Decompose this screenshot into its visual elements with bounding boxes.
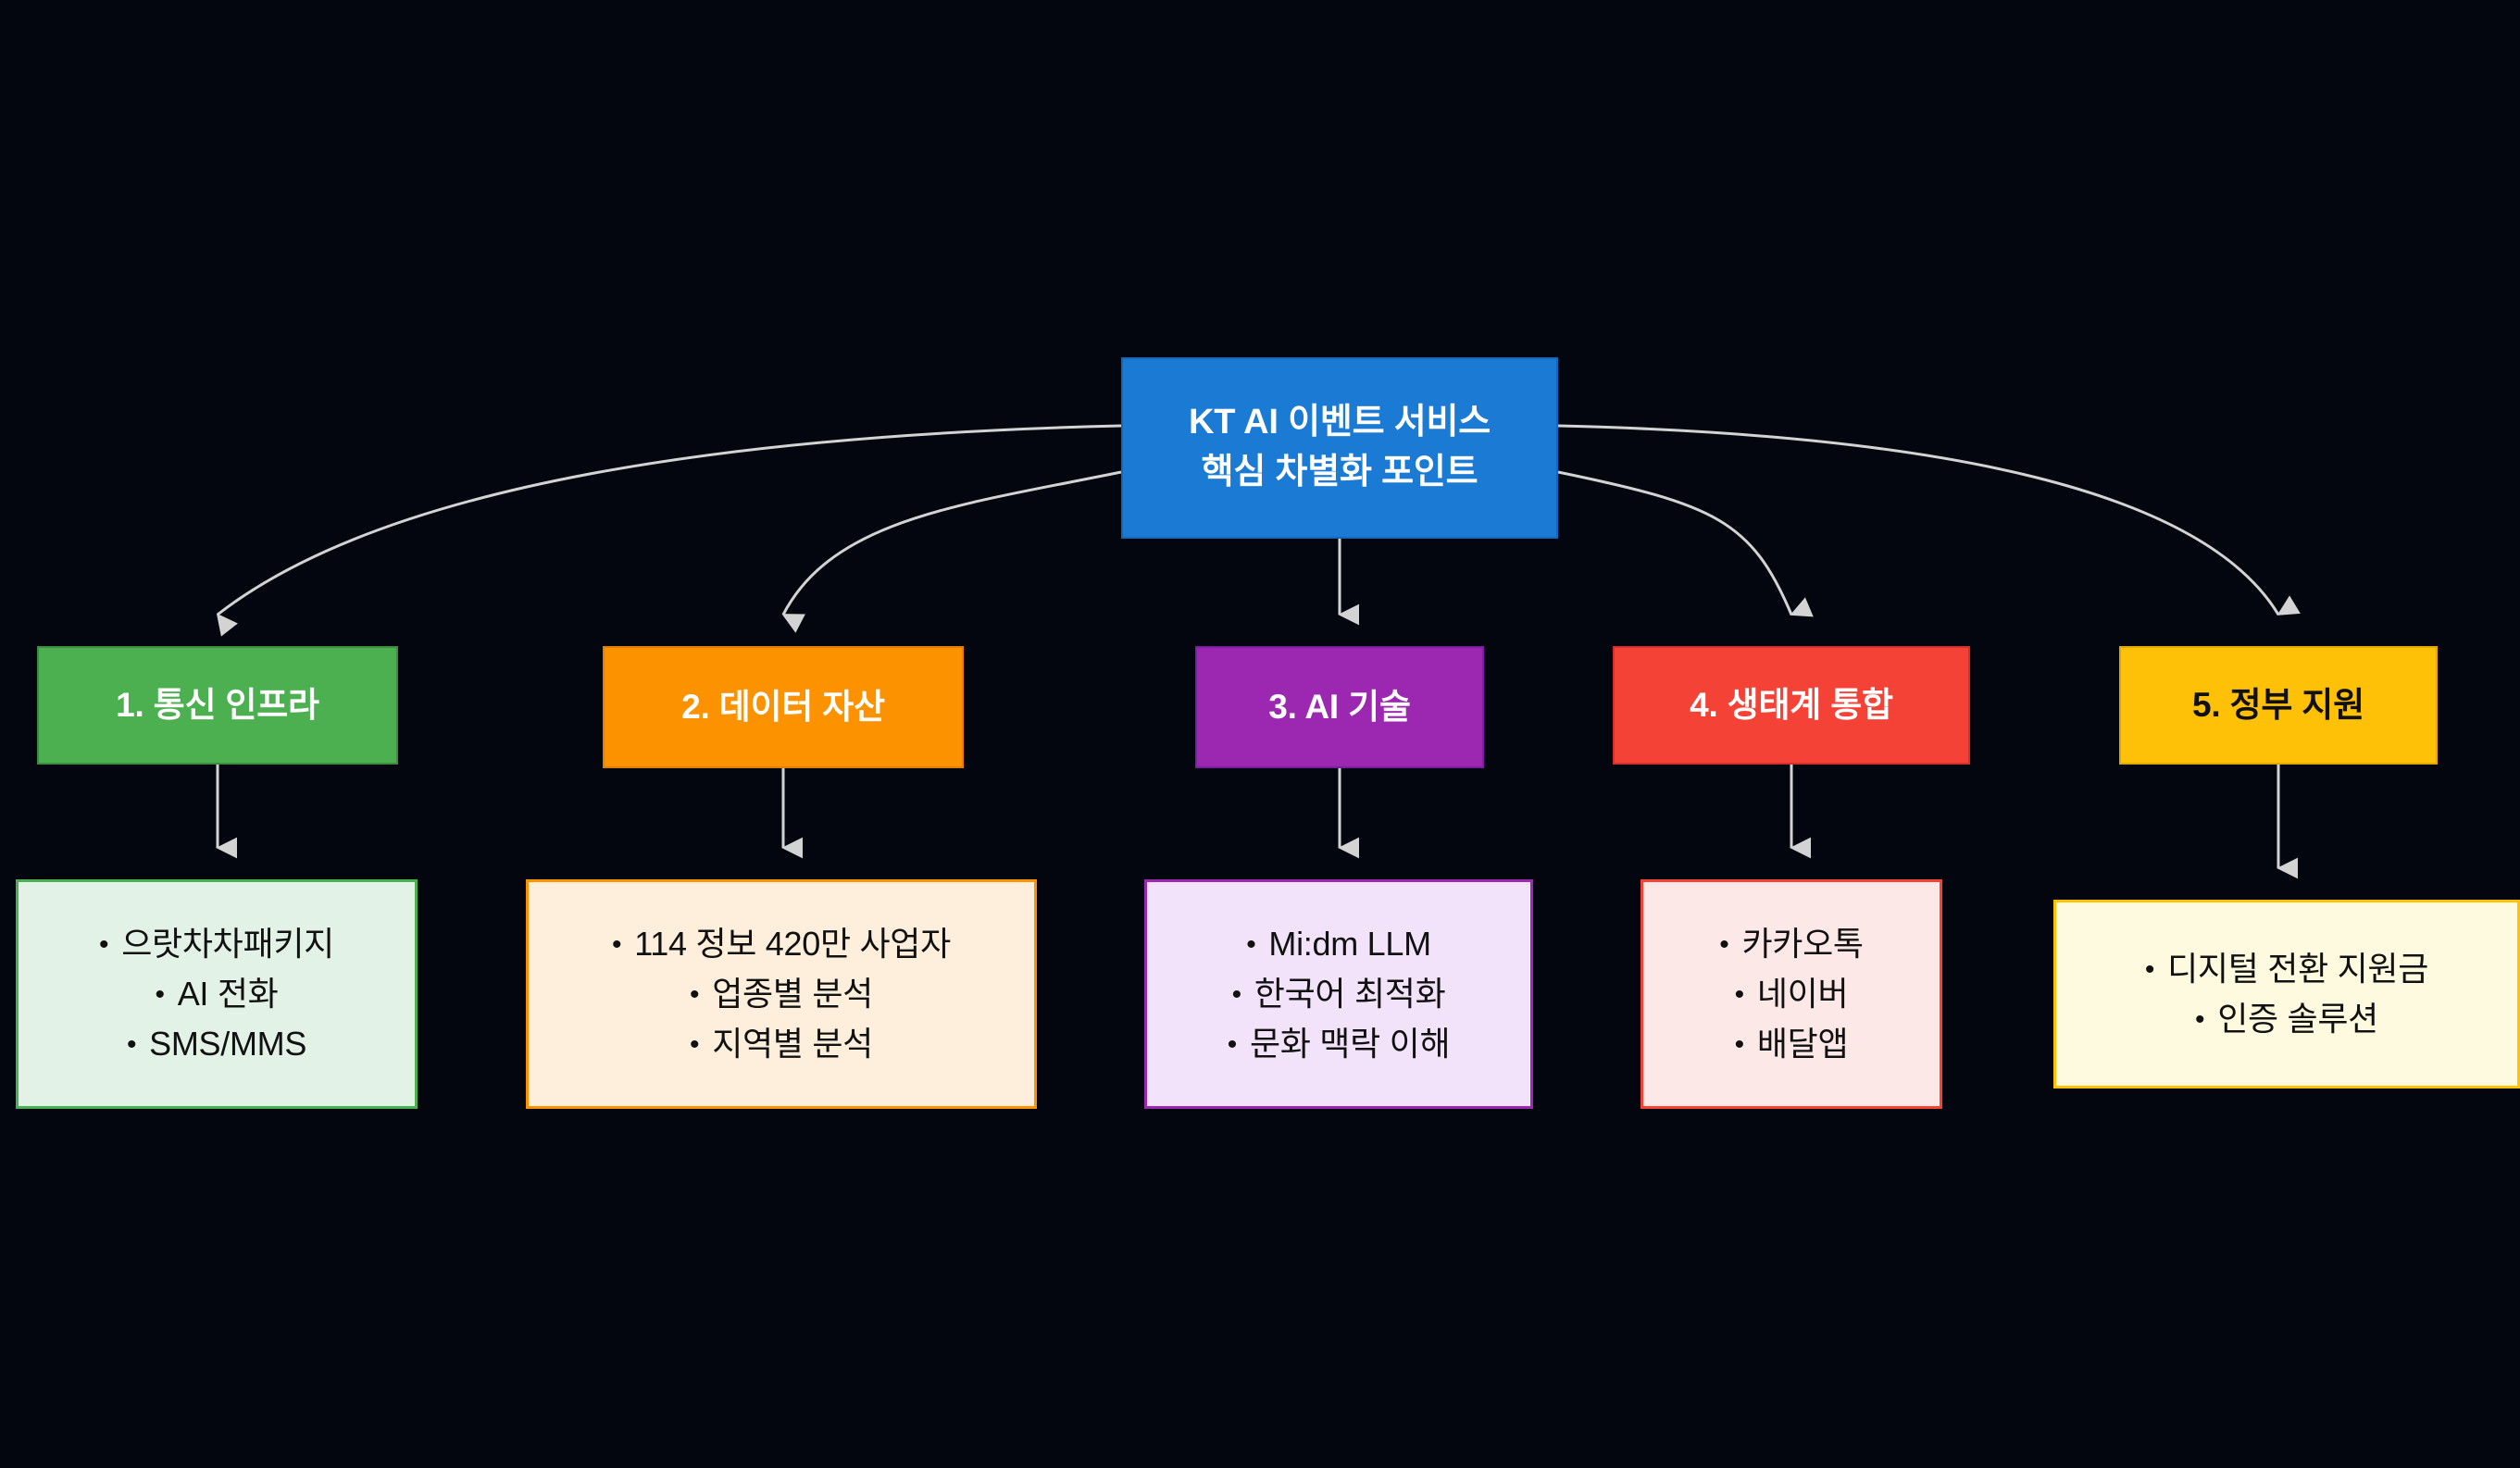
node-root-title-line-1: KT AI 이벤트 서비스 <box>1189 398 1491 448</box>
node-category-5-label: 5. 정부 지원 <box>2192 683 2364 728</box>
leaf-3-list: Mi:dm LLM 한국어 최적화 문화 맥락 이해 <box>1228 919 1451 1069</box>
node-category-1-label: 1. 통신 인프라 <box>116 683 319 728</box>
list-item: 카카오톡 <box>1719 919 1863 969</box>
list-item: 문화 맥락 이해 <box>1228 1019 1451 1069</box>
node-category-2-label: 2. 데이터 자산 <box>681 685 885 729</box>
edge-root-to-branch-1 <box>218 426 1121 615</box>
list-item: 인증 솔루션 <box>2195 994 2378 1044</box>
node-leaf-2[interactable]: 114 정보 420만 사업자 업종별 분석 지역별 분석 <box>526 879 1037 1109</box>
list-item: 디지털 전환 지원금 <box>2145 944 2428 994</box>
list-item: 으랏차차패키지 <box>99 919 334 969</box>
leaf-1-list: 으랏차차패키지 AI 전화 SMS/MMS <box>99 919 334 1069</box>
list-item: 114 정보 420만 사업자 <box>612 919 951 969</box>
edge-root-to-branch-2 <box>783 472 1121 615</box>
node-leaf-1[interactable]: 으랏차차패키지 AI 전화 SMS/MMS <box>16 879 418 1109</box>
list-item: AI 전화 <box>156 969 279 1019</box>
node-category-5[interactable]: 5. 정부 지원 <box>2119 646 2438 765</box>
list-item: 업종별 분석 <box>690 969 873 1019</box>
leaf-2-list: 114 정보 420만 사업자 업종별 분석 지역별 분석 <box>612 919 951 1069</box>
list-item: Mi:dm LLM <box>1246 919 1431 969</box>
node-category-2[interactable]: 2. 데이터 자산 <box>603 646 964 768</box>
node-leaf-5[interactable]: 디지털 전환 지원금 인증 솔루션 <box>2053 900 2520 1089</box>
list-item: 지역별 분석 <box>690 1019 873 1069</box>
node-category-4-label: 4. 생태계 통합 <box>1690 683 1893 728</box>
leaf-4-list: 카카오톡 네이버 배달앱 <box>1719 919 1863 1069</box>
node-leaf-4[interactable]: 카카오톡 네이버 배달앱 <box>1640 879 1942 1109</box>
node-category-1[interactable]: 1. 통신 인프라 <box>37 646 398 765</box>
diagram-canvas: KT AI 이벤트 서비스 핵심 차별화 포인트 1. 통신 인프라 으랏차차패… <box>0 0 2520 1468</box>
node-root[interactable]: KT AI 이벤트 서비스 핵심 차별화 포인트 <box>1121 357 1558 539</box>
list-item: SMS/MMS <box>127 1019 306 1069</box>
edge-root-to-branch-4 <box>1558 472 1791 615</box>
node-category-4[interactable]: 4. 생태계 통합 <box>1613 646 1970 765</box>
list-item: 배달앱 <box>1735 1019 1849 1069</box>
node-category-3-label: 3. AI 기술 <box>1268 685 1411 729</box>
edge-root-to-branch-5 <box>1558 426 2278 615</box>
node-root-title-line-2: 핵심 차별화 포인트 <box>1202 448 1478 498</box>
leaf-5-list: 디지털 전환 지원금 인증 솔루션 <box>2145 944 2428 1044</box>
node-category-3[interactable]: 3. AI 기술 <box>1195 646 1484 768</box>
list-item: 한국어 최적화 <box>1232 969 1446 1019</box>
node-leaf-3[interactable]: Mi:dm LLM 한국어 최적화 문화 맥락 이해 <box>1144 879 1533 1109</box>
list-item: 네이버 <box>1735 969 1849 1019</box>
